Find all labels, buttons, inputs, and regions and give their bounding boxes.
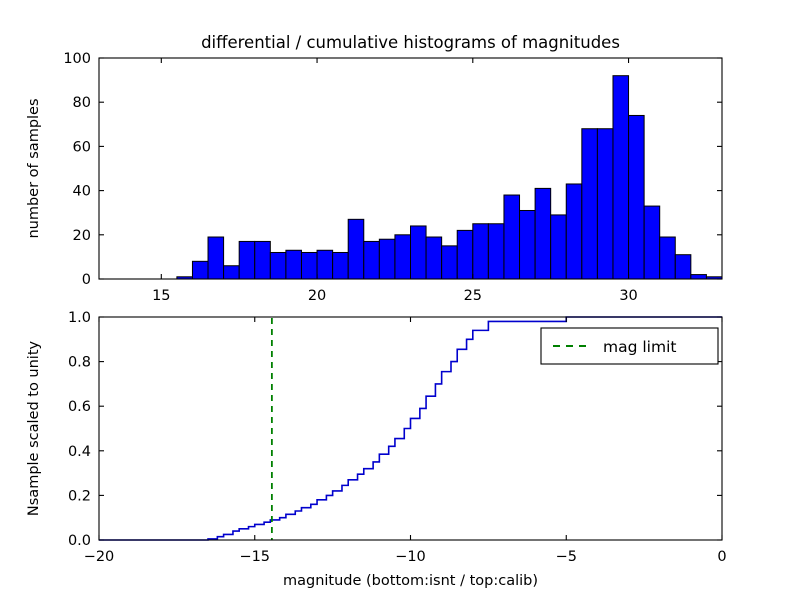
histogram-bar bbox=[582, 129, 598, 279]
histogram-bar bbox=[691, 275, 707, 279]
top-ytick-label: 60 bbox=[73, 139, 91, 155]
histogram-bar bbox=[566, 184, 582, 279]
histogram-bar bbox=[301, 252, 317, 279]
top-ylabel: number of samples bbox=[26, 98, 42, 238]
histogram-bar bbox=[270, 252, 286, 279]
histogram-bar bbox=[597, 129, 613, 279]
bottom-xtick-label: −5 bbox=[556, 549, 577, 565]
figure-title: differential / cumulative histograms of … bbox=[201, 33, 620, 52]
histogram-bar bbox=[239, 241, 255, 279]
bottom-ytick-label: 0.6 bbox=[68, 399, 91, 415]
histogram-bar bbox=[411, 226, 427, 279]
histogram-bar bbox=[644, 206, 660, 279]
histogram-bar bbox=[286, 250, 302, 279]
top-ytick-label: 100 bbox=[63, 51, 91, 67]
bottom-ytick-label: 1.0 bbox=[68, 310, 91, 326]
bottom-ytick-label: 0.8 bbox=[68, 355, 91, 371]
bottom-ytick-label: 0.2 bbox=[68, 488, 91, 504]
bottom-ytick-label: 0.0 bbox=[68, 533, 91, 549]
legend-mag-limit-label: mag limit bbox=[603, 338, 676, 356]
histogram-bar bbox=[208, 237, 224, 279]
histogram-bar bbox=[551, 215, 567, 279]
histogram-bar bbox=[348, 219, 364, 279]
histogram-bar bbox=[613, 76, 629, 279]
top-xtick-label: 30 bbox=[619, 288, 637, 304]
figure-canvas: 02040608010015202530number of samplesdif… bbox=[0, 0, 800, 600]
bottom-ytick-label: 0.4 bbox=[68, 444, 91, 460]
bottom-xlabel: magnitude (bottom:isnt / top:calib) bbox=[283, 573, 538, 589]
legend[interactable]: mag limit bbox=[541, 328, 718, 364]
histogram-bar bbox=[442, 246, 458, 279]
histogram-bar bbox=[504, 195, 520, 279]
histogram-bar bbox=[629, 115, 645, 279]
histogram-bar bbox=[675, 255, 691, 279]
histogram-bars bbox=[177, 76, 722, 279]
histogram-bar bbox=[520, 210, 536, 279]
top-xtick-label: 20 bbox=[308, 288, 326, 304]
histogram-bar bbox=[317, 250, 333, 279]
top-ytick-label: 80 bbox=[73, 95, 91, 111]
histogram-bar bbox=[224, 266, 240, 279]
top-ytick-label: 0 bbox=[82, 272, 91, 288]
histogram-bar bbox=[333, 252, 349, 279]
histogram-bar bbox=[488, 224, 504, 279]
bottom-ylabel: Nsample scaled to unity bbox=[26, 340, 42, 516]
histogram-bar bbox=[457, 230, 473, 279]
top-ytick-label: 20 bbox=[73, 228, 91, 244]
histogram-bar bbox=[426, 237, 442, 279]
top-xtick-label: 25 bbox=[464, 288, 482, 304]
matplotlib-figure: 02040608010015202530number of samplesdif… bbox=[0, 0, 800, 600]
histogram-bar bbox=[535, 188, 551, 279]
histogram-bar bbox=[660, 237, 676, 279]
histogram-bar bbox=[255, 241, 271, 279]
histogram-bar bbox=[379, 239, 395, 279]
histogram-bar bbox=[364, 241, 380, 279]
bottom-xtick-label: 0 bbox=[717, 549, 726, 565]
top-xtick-label: 15 bbox=[152, 288, 170, 304]
histogram-bar bbox=[192, 261, 208, 279]
histogram-bar bbox=[473, 224, 489, 279]
bottom-xtick-label: −10 bbox=[395, 549, 426, 565]
top-ytick-label: 40 bbox=[73, 184, 91, 200]
histogram-bar bbox=[395, 235, 411, 279]
bottom-xtick-label: −20 bbox=[84, 549, 115, 565]
bottom-xtick-label: −15 bbox=[239, 549, 270, 565]
